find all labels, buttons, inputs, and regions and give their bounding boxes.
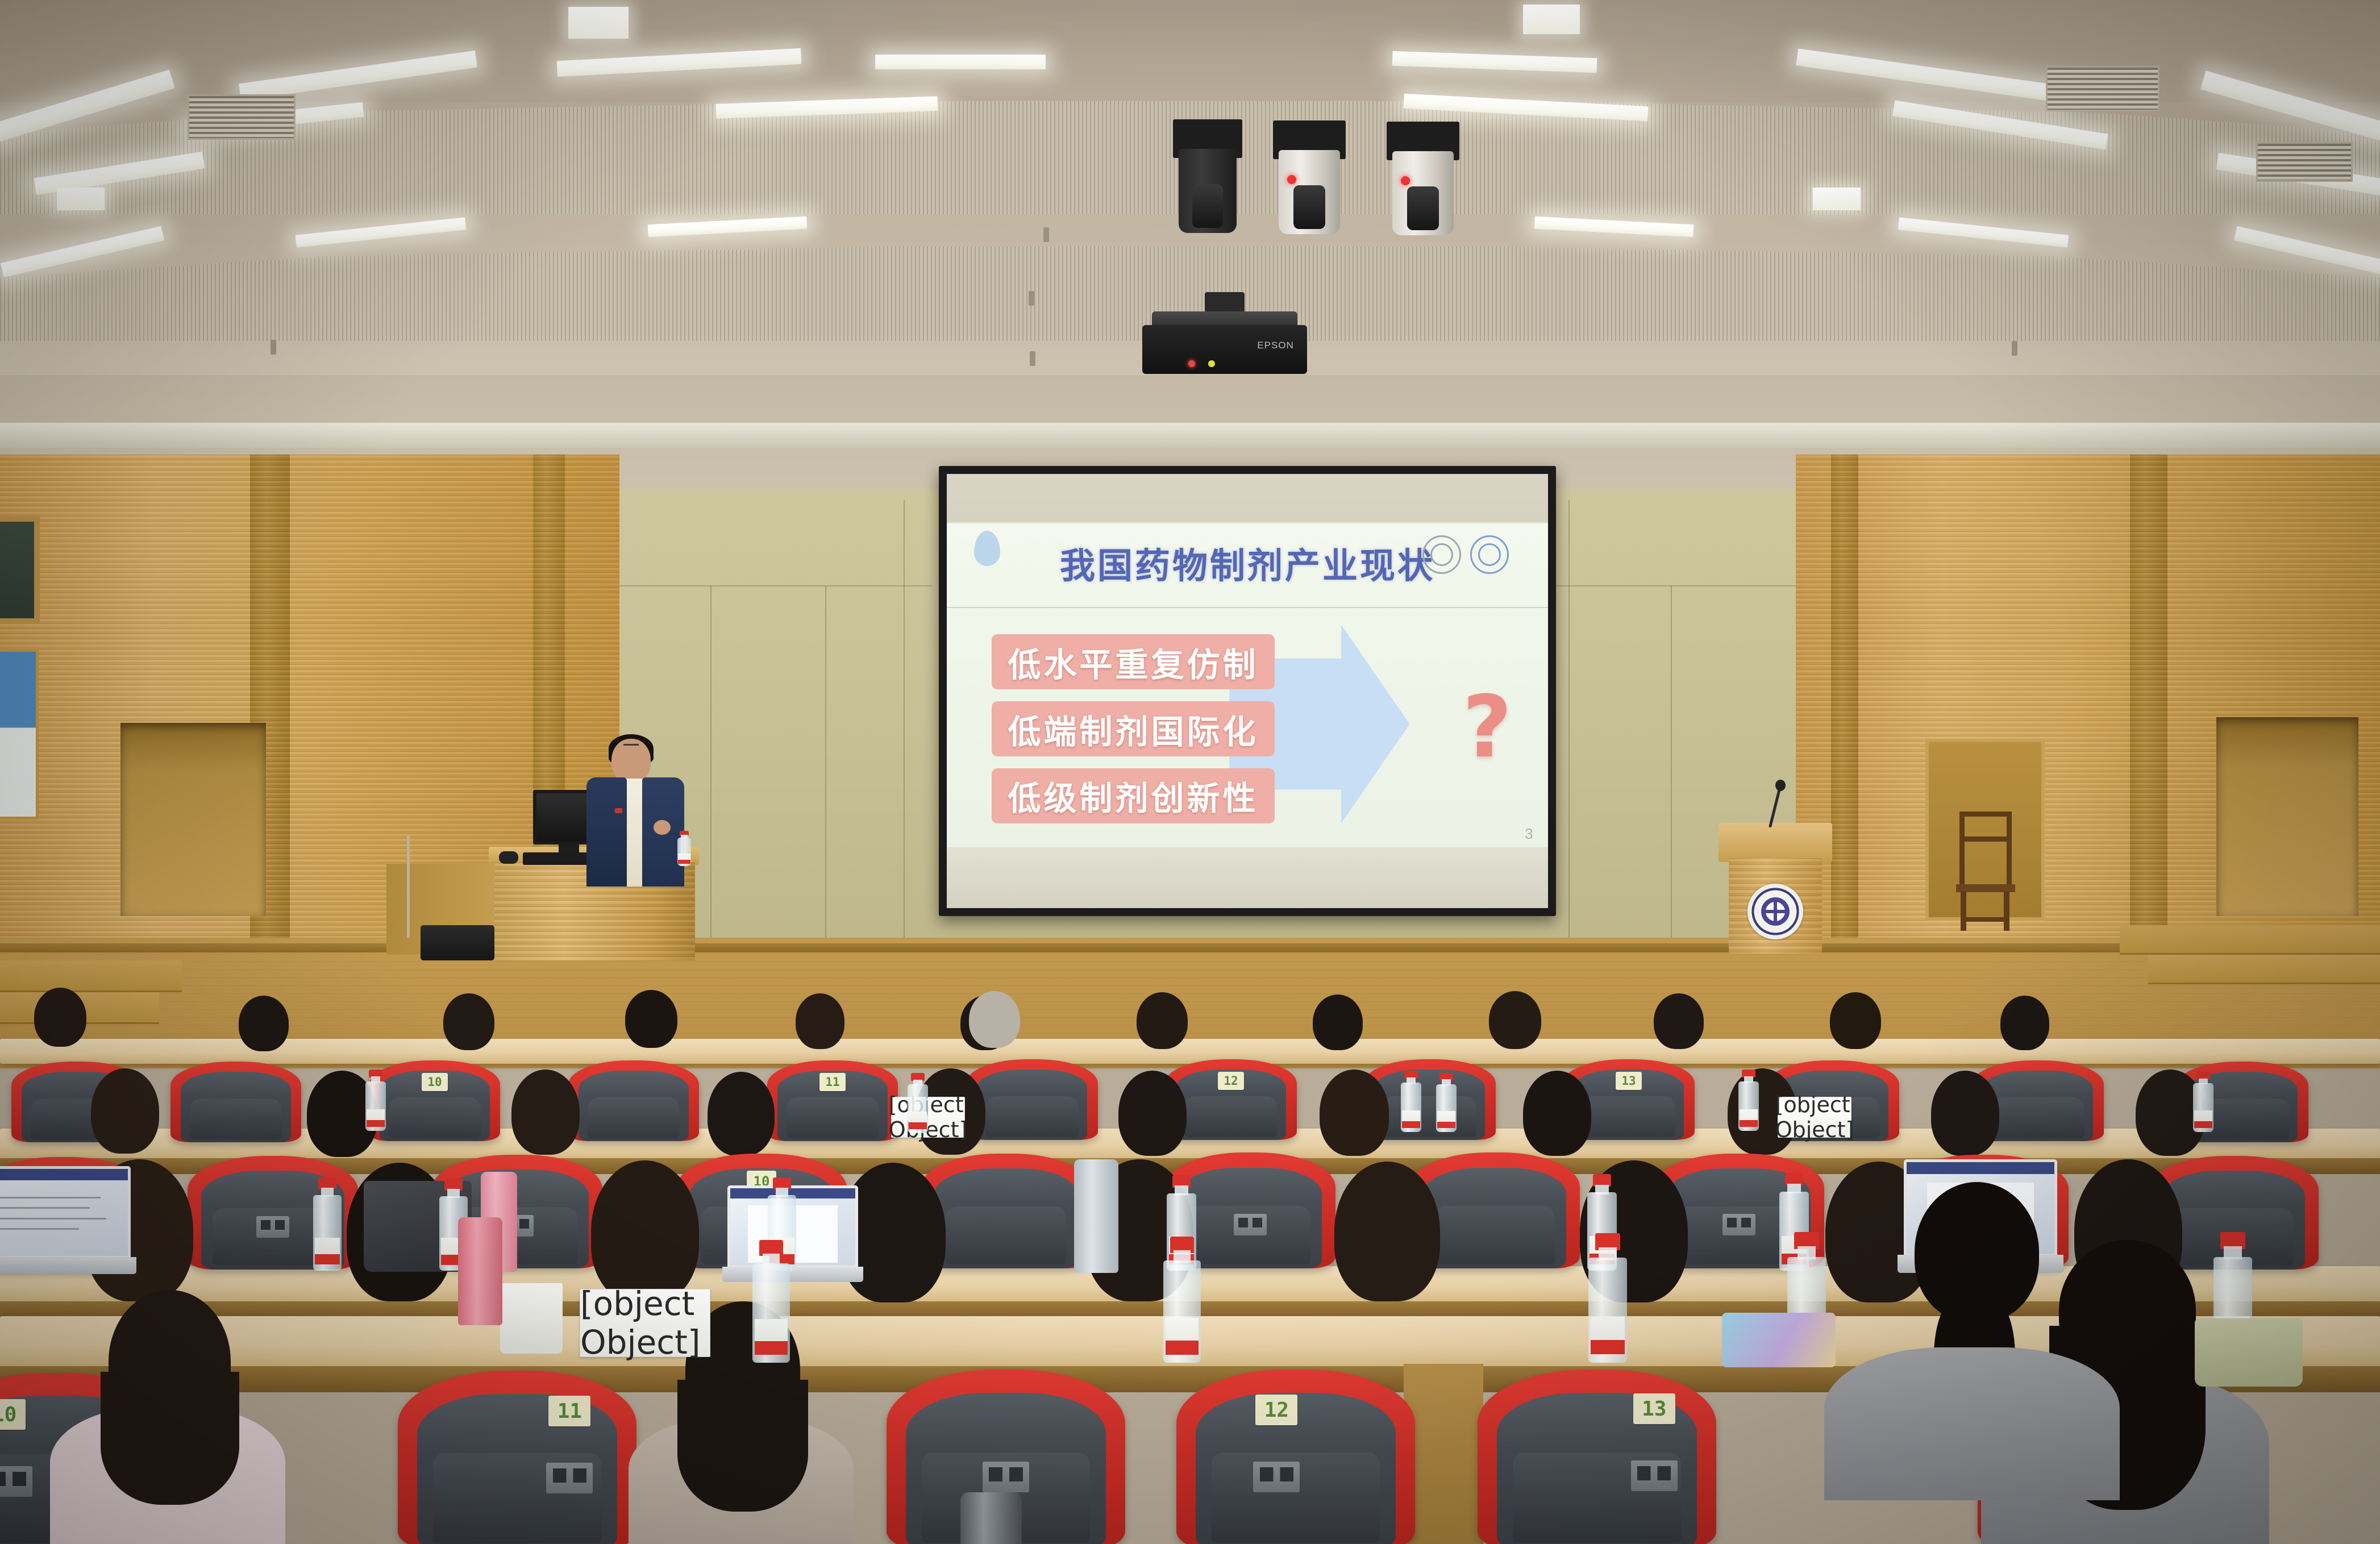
audience-head	[1654, 993, 1704, 1049]
bottle-body	[365, 1081, 386, 1131]
laptop-text-line	[0, 1197, 101, 1198]
ceiling-downlight-1	[568, 7, 629, 39]
stage-front-edge	[0, 943, 2380, 952]
screen-surface: 我国药物制剂产业现状 低水平重复仿制 低端制剂国际化 低级制剂创新性 ? 3	[947, 474, 1548, 908]
seat-hook-plate-icon	[983, 1462, 1029, 1492]
presenter-glasses-icon	[623, 744, 639, 746]
water-bottle	[906, 1073, 930, 1133]
chair-shell	[579, 1071, 688, 1141]
laptop-text-line	[0, 1207, 90, 1209]
camera-body	[1279, 150, 1340, 234]
bottle-body	[1738, 1081, 1759, 1131]
university-seal-logo-icon	[1422, 535, 1461, 574]
audience-head	[1137, 992, 1188, 1049]
chair-row2: 11	[767, 1060, 898, 1141]
bottle-label	[1166, 1318, 1199, 1355]
chair-shell	[934, 1168, 1077, 1268]
chair-shell	[1983, 1071, 2094, 1141]
seat-number-tag: 13	[1616, 1072, 1642, 1090]
ceiling-camera-right	[1387, 122, 1459, 235]
audience-head	[1931, 1071, 1999, 1156]
slide-question-mark: ?	[1463, 685, 1512, 770]
chair-row3	[921, 1154, 1091, 1268]
wooden-chair	[1956, 811, 2015, 931]
bottle-label	[2194, 1110, 2213, 1128]
wall-fascia	[0, 423, 2380, 448]
globe-university-emblem-icon	[1747, 884, 1803, 939]
pink-water-bottle	[458, 1217, 502, 1325]
chair-row2	[568, 1060, 699, 1141]
water-bottle	[750, 1240, 792, 1363]
wall-seam	[614, 585, 932, 586]
hvac-vent-left	[188, 94, 296, 140]
audience-head	[796, 993, 844, 1049]
chair-leg-left	[1961, 891, 1966, 931]
stage-step-right	[2120, 925, 2380, 955]
bottle-body	[1588, 1258, 1628, 1363]
wall-seam	[1568, 500, 1570, 938]
projector-status-led	[1208, 360, 1215, 367]
chair-front-row: 11	[398, 1371, 636, 1544]
wall-seam	[1546, 585, 1796, 586]
water-bottle	[1434, 1073, 1458, 1132]
stage-cable	[407, 835, 410, 938]
ceiling-camera-left	[1173, 119, 1242, 233]
bottle-label	[1402, 1110, 1421, 1128]
bottle-body	[313, 1195, 341, 1271]
projector-body: EPSON	[1142, 325, 1307, 374]
sprinkler-head-5	[2012, 341, 2017, 356]
seat-number-tag: 10	[422, 1073, 448, 1091]
wall-seam	[825, 585, 826, 938]
audience-head	[591, 1160, 699, 1302]
chair-row2: 10	[369, 1060, 500, 1141]
audience-head	[2000, 996, 2049, 1050]
grey-water-flask	[1074, 1159, 1118, 1273]
ceiling-projector: EPSON	[1142, 311, 1307, 374]
water-bottle	[1160, 1237, 1204, 1363]
chair-leg-right	[2004, 891, 2009, 931]
camera-record-led	[1287, 175, 1296, 184]
bottle-label	[678, 854, 690, 864]
projector-mount	[1205, 292, 1245, 314]
wall-wood-pilaster-right	[2130, 455, 2167, 955]
water-bottle	[364, 1069, 388, 1131]
wall-seam	[710, 585, 711, 938]
bottle-body	[1436, 1084, 1457, 1132]
audience-torso	[1824, 1347, 2120, 1500]
seat-number-tag: 11	[819, 1073, 846, 1091]
slide-header: 我国药物制剂产业现状	[947, 524, 1548, 608]
projector-brand-label: EPSON	[1257, 340, 1294, 351]
seat-number-tag: 13	[1633, 1393, 1675, 1424]
chair-front-row: 12	[1176, 1370, 1415, 1544]
audience-head	[443, 993, 494, 1050]
slide-badge-3: 低级制剂创新性	[992, 768, 1274, 823]
projection-screen: 我国药物制剂产业现状 低水平重复仿制 低端制剂国际化 低级制剂创新性 ? 3	[939, 466, 1556, 916]
wall-blackboard-left	[0, 516, 40, 624]
gooseneck-microphone-head-icon	[1775, 780, 1786, 791]
lectern	[1719, 823, 1832, 954]
laptop-screen	[0, 1166, 131, 1259]
lectern-top-surface	[1719, 823, 1832, 862]
chair-row2	[966, 1059, 1098, 1140]
stage-equipment-case	[421, 925, 494, 960]
camera-lens	[1192, 184, 1222, 228]
camera-body	[1392, 151, 1454, 235]
audience-hair-fall	[101, 1372, 239, 1505]
wall-niche-left	[120, 723, 266, 916]
bottle-label	[367, 1109, 385, 1127]
sprinkler-head-4	[271, 340, 276, 355]
tote-bag	[2195, 1318, 2303, 1387]
audience-head	[91, 1068, 159, 1154]
bottle-label	[315, 1238, 339, 1265]
seat-hook-plate-icon	[0, 1466, 32, 1497]
presenter-hand	[654, 820, 671, 835]
laptop-text-line	[0, 1218, 106, 1220]
slide-badge-1: 低水平重复仿制	[992, 634, 1274, 689]
ceiling-downlight-2	[1523, 5, 1580, 34]
laptop-title-bar	[0, 1169, 128, 1180]
camera-body	[1179, 149, 1237, 233]
laptop-title-bar	[1907, 1162, 2054, 1174]
audience-head	[511, 1069, 580, 1155]
bottle-body	[908, 1084, 929, 1133]
bottle-label	[755, 1319, 787, 1355]
camera-lens	[1407, 186, 1439, 230]
chair-row2	[170, 1062, 301, 1142]
sprinkler-head-1	[1043, 227, 1049, 242]
chair-shell	[1423, 1168, 1566, 1268]
seat-hook-plate-icon	[256, 1216, 289, 1238]
audience-head	[1489, 991, 1541, 1049]
seat-number-tag: 12	[1255, 1395, 1297, 1425]
wall-seam	[1671, 585, 1672, 938]
audience-head	[239, 996, 289, 1051]
audience-head	[708, 1072, 775, 1156]
bottle-body	[677, 838, 692, 866]
chair-front-row: 13	[1478, 1370, 1716, 1544]
bottle-body	[752, 1263, 789, 1363]
water-bottle	[311, 1177, 343, 1271]
chair-shell	[977, 1069, 1088, 1140]
laptop-base	[0, 1257, 136, 1274]
seat-number-tag: 12	[1218, 1072, 1244, 1090]
audience-head	[1523, 1071, 1591, 1156]
chair-stretcher	[1961, 917, 2009, 922]
bottle-label	[1437, 1111, 1456, 1128]
pencil-pouch	[1722, 1313, 1836, 1367]
water-bottle	[1586, 1233, 1630, 1363]
audience-head-elder	[969, 991, 1020, 1048]
lectern-front-panel	[1729, 858, 1822, 954]
chair-shell	[181, 1072, 290, 1142]
lecture-hall-photo: EPSON 我国药物制剂产业现状	[0, 0, 2380, 1544]
audience-head	[1334, 1162, 1440, 1301]
ceiling-camera-center	[1273, 120, 1346, 234]
audience-head	[1313, 994, 1363, 1050]
bottle-body	[1401, 1083, 1422, 1132]
wall-seam	[904, 500, 905, 938]
presenter-jacket-left	[586, 777, 627, 887]
camera-lens	[1293, 185, 1325, 229]
name-card: [object Object]	[1778, 1097, 1851, 1138]
stage-step-left	[0, 960, 182, 992]
bottle-label	[1740, 1109, 1758, 1127]
seat-number-tag: 11	[548, 1396, 590, 1426]
projector-power-led	[1188, 360, 1195, 367]
bottle-label	[1591, 1317, 1625, 1354]
name-card: [object Object]	[580, 1289, 710, 1357]
ceiling-light-strip-7	[875, 55, 1046, 69]
seat-hook-plate-icon	[546, 1463, 593, 1493]
slide-body: 低水平重复仿制 低端制剂国际化 低级制剂创新性 ? 3	[947, 608, 1548, 847]
audience-head	[1118, 1071, 1187, 1156]
audience-person-right-typing	[1853, 1182, 2091, 1500]
presentation-slide: 我国药物制剂产业现状 低水平重复仿制 低端制剂国际化 低级制剂创新性 ? 3	[947, 524, 1548, 847]
bottle-label	[909, 1112, 927, 1129]
audience-head	[1830, 992, 1881, 1049]
wall-wood-pilaster-right-2	[1831, 455, 1858, 955]
water-bottle	[2191, 1072, 2215, 1132]
slide-badge-2: 低端制剂国际化	[992, 701, 1274, 756]
presenter	[590, 739, 674, 887]
bottle-body	[1163, 1260, 1201, 1363]
water-bottle	[1737, 1069, 1761, 1131]
seat-hook-plate-icon	[1722, 1214, 1755, 1235]
stage-step-right-2	[2148, 955, 2380, 984]
sprinkler-head-3	[1030, 351, 1035, 366]
audience-head	[1320, 1069, 1389, 1156]
wall-poster-left	[0, 649, 39, 819]
chair-shell	[1375, 1069, 1486, 1140]
seat-hook-plate-icon	[1253, 1462, 1300, 1492]
aisle-gap	[1404, 1364, 1483, 1544]
chair-back-slat	[1962, 836, 2009, 842]
audience-hair-fall	[677, 1380, 808, 1512]
wall-niche-right	[2216, 717, 2358, 916]
audience-head	[34, 988, 86, 1047]
hvac-vent-far-right	[2256, 142, 2353, 182]
hvac-vent-right	[2046, 66, 2160, 111]
water-bottle	[1399, 1071, 1423, 1132]
laptop-text-line	[0, 1228, 79, 1230]
podium-mouse	[499, 851, 518, 864]
seat-number-tag: 10	[0, 1399, 26, 1430]
slide-page-number: 3	[1525, 825, 1533, 843]
steel-thermos	[960, 1492, 1022, 1544]
audience-head	[625, 990, 677, 1048]
paper-cup	[500, 1283, 563, 1354]
laptop	[0, 1166, 131, 1274]
ceiling-downlight-4	[57, 188, 105, 210]
camera-record-led	[1401, 176, 1410, 185]
chair-backrest	[1959, 811, 2012, 887]
sprinkler-head-2	[1029, 291, 1034, 306]
presenter-head	[611, 739, 650, 783]
seat-hook-plate-icon	[1631, 1460, 1678, 1491]
ceiling-downlight-3	[1813, 188, 1861, 210]
bottle-body	[2193, 1083, 2214, 1132]
seat-hook-plate-icon	[1234, 1214, 1267, 1235]
audience-person-front-left	[63, 1290, 273, 1544]
presenter-lapel-pin	[615, 808, 622, 813]
podium-water-bottle	[676, 831, 692, 866]
